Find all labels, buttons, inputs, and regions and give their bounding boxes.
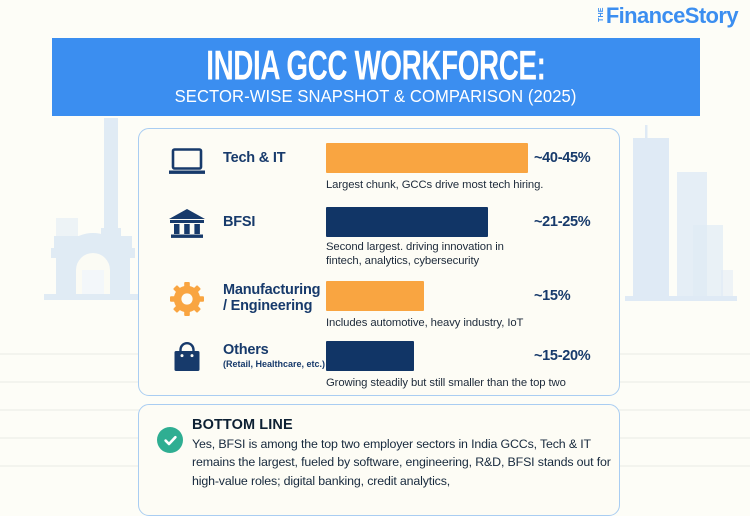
bottom-line-body: Yes, BFSI is among the top two employer … — [192, 435, 612, 490]
bottom-line-title: BOTTOM LINE — [192, 417, 293, 433]
bar-value-others: ~15-20% — [534, 348, 590, 364]
bottom-line-card: BOTTOM LINE Yes, BFSI is among the top t… — [138, 404, 620, 516]
bar-others — [326, 341, 414, 371]
bar-value-tech-it: ~40-45% — [534, 150, 590, 166]
bank-icon — [161, 207, 213, 241]
bar-tech-it — [326, 143, 528, 173]
sector-note-others: Growing steadily but still smaller than … — [326, 377, 626, 391]
bar-value-bfsi: ~21-25% — [534, 214, 590, 230]
finance-story-logo[interactable]: THE FinanceStory — [598, 5, 738, 27]
sector-note-tech-it: Largest chunk, GCCs drive most tech hiri… — [326, 179, 626, 193]
sector-breakdown-card: Tech & IT ~40-45% Largest chunk, GCCs dr… — [138, 128, 620, 396]
bar-value-manufacturing: ~15% — [534, 288, 570, 304]
bar-group-bfsi: ~21-25% — [326, 207, 619, 237]
sector-name: Tech & IT — [223, 151, 327, 167]
bar-group-tech-it: ~40-45% — [326, 143, 619, 173]
bar-manufacturing — [326, 281, 424, 311]
bar-bfsi — [326, 207, 488, 237]
logo-the-text: THE — [598, 6, 605, 23]
gear-icon — [161, 282, 213, 316]
skyline-watermark — [625, 120, 750, 305]
sector-label-manufacturing: Manufacturing / Engineering — [223, 283, 327, 314]
check-circle-icon — [157, 427, 183, 453]
sector-name: BFSI — [223, 215, 327, 231]
sector-note-bfsi: Second largest. driving innovation in fi… — [326, 241, 541, 269]
bar-group-manufacturing: ~15% — [326, 281, 619, 311]
sector-label-tech-it: Tech & IT — [223, 151, 327, 167]
logo-bar: THE FinanceStory — [0, 0, 750, 36]
page-subtitle: SECTOR-WISE SNAPSHOT & COMPARISON (2025) — [175, 88, 577, 106]
logo-name-text: FinanceStory — [606, 5, 738, 27]
bar-group-others: ~15-20% — [326, 341, 619, 371]
shopping-bag-icon — [161, 341, 213, 375]
sector-name: Others — [223, 343, 327, 359]
sector-note-manufacturing: Includes automotive, heavy industry, IoT — [326, 317, 626, 331]
sector-label-bfsi: BFSI — [223, 215, 327, 231]
header-banner: INDIA GCC WORKFORCE: SECTOR-WISE SNAPSHO… — [52, 38, 700, 116]
sector-sub-label: (Retail, Healthcare, etc.) — [223, 360, 327, 370]
page-title: INDIA GCC WORKFORCE: — [206, 45, 545, 86]
laptop-icon — [161, 145, 213, 179]
sector-name: Manufacturing / Engineering — [223, 283, 327, 314]
sector-label-others: Others (Retail, Healthcare, etc.) — [223, 343, 327, 370]
